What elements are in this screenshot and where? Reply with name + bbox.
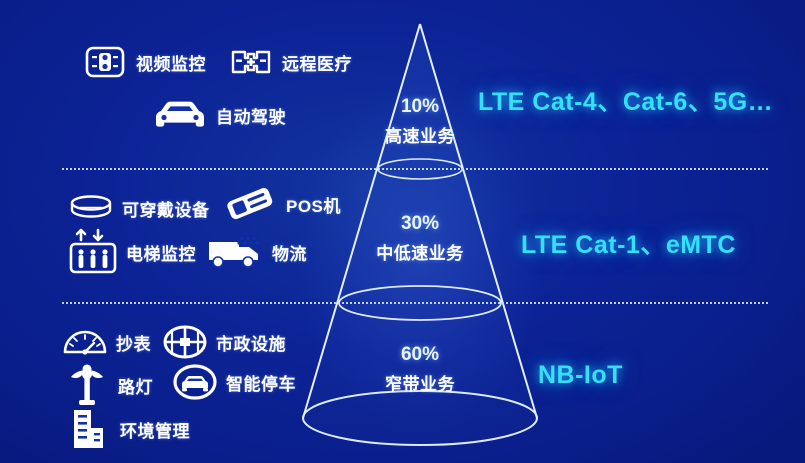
app-item-logistics: 物流	[206, 232, 307, 272]
tech-label-high-speed: LTE Cat-4、Cat-6、5G…	[478, 82, 773, 118]
gauge-meter-icon	[62, 322, 108, 362]
app-label: 智能停车	[226, 370, 296, 395]
parking-car-icon	[172, 362, 218, 402]
cone-segment-percent-medium: 30%	[370, 213, 470, 235]
app-item-pos-machine: POS机	[222, 184, 341, 224]
app-label: 路灯	[118, 373, 153, 398]
app-label: 自动驾驶	[216, 103, 286, 128]
app-label: 视频监控	[136, 50, 206, 75]
app-item-street-lamp: 路灯	[64, 362, 153, 408]
app-item-telemedicine: 远程医疗	[228, 42, 352, 82]
app-label: 抄表	[116, 330, 151, 355]
app-label: 市政设施	[216, 330, 286, 355]
cone-segment-name-high: 高速业务	[360, 122, 480, 147]
app-label: 远程医疗	[282, 50, 352, 75]
cone-segment-percent-low: 60%	[370, 344, 470, 366]
app-label: POS机	[286, 192, 341, 217]
app-item-video-surveillance: 视频监控	[82, 42, 206, 82]
elevator-icon	[68, 228, 118, 276]
app-item-smart-parking: 智能停车	[172, 362, 296, 402]
telemedicine-icon	[228, 42, 274, 82]
app-label: 可穿戴设备	[122, 196, 210, 221]
app-item-autonomous-driving: 自动驾驶	[152, 95, 286, 135]
divider-line-high-medium	[62, 168, 768, 170]
street-lamp-icon	[64, 362, 110, 408]
iot-service-pyramid-diagram: 视频监控 远程医疗 自动驾驶	[0, 0, 805, 463]
tech-label-medium-speed: LTE Cat-1、eMTC	[521, 225, 736, 261]
delivery-truck-icon	[206, 232, 264, 272]
divider-line-medium-low	[62, 302, 768, 304]
cone-segment-name-low: 窄带业务	[360, 370, 480, 395]
app-item-wearable: 可穿戴设备	[68, 188, 210, 228]
cone-base-ellipse	[303, 391, 537, 445]
app-label: 环境管理	[120, 417, 190, 442]
car-icon	[152, 95, 208, 135]
traffic-light-icon	[82, 42, 128, 82]
app-label: 电梯监控	[126, 240, 196, 265]
municipal-grid-icon	[162, 322, 208, 362]
cone-segment-name-medium: 中低速业务	[350, 239, 490, 264]
wearable-band-icon	[68, 188, 114, 228]
app-item-elevator-monitoring: 电梯监控	[68, 228, 196, 276]
app-item-municipal-facilities: 市政设施	[162, 322, 286, 362]
app-item-environment-management: 环境管理	[66, 406, 190, 452]
pos-terminal-icon	[222, 184, 278, 224]
app-item-meter-reading: 抄表	[62, 322, 151, 362]
tech-label-narrowband: NB-IoT	[538, 361, 623, 390]
app-label: 物流	[272, 240, 307, 265]
cone-segment-percent-high: 10%	[370, 96, 470, 118]
building-icon	[66, 406, 112, 452]
